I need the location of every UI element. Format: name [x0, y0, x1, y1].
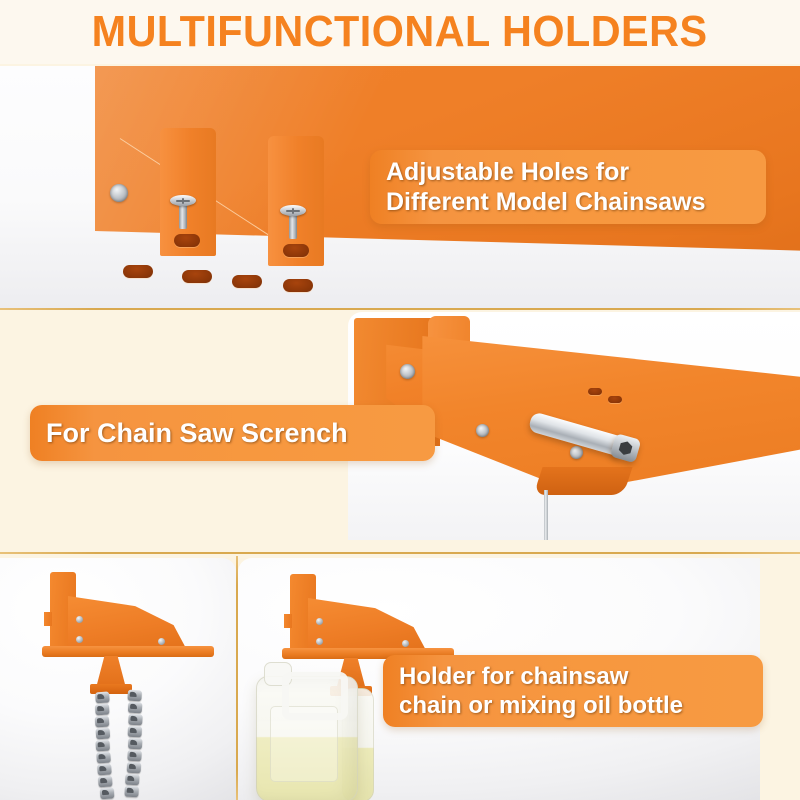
bracket-shelf	[42, 646, 214, 657]
divider-panel1-panel2	[0, 308, 800, 310]
bracket-rivet-1	[76, 616, 83, 623]
chainsaw-chain-strand-left	[94, 692, 108, 693]
title-bar: MULTIFUNCTIONAL HOLDERS	[0, 0, 800, 64]
bracket-rivet-1	[316, 618, 323, 625]
adjust-slot-2	[283, 244, 309, 257]
shelf-hole-2	[608, 396, 622, 403]
screw-head	[170, 195, 196, 206]
bracket-rivet-2	[316, 638, 323, 645]
shelf-fixing-screw-2	[476, 424, 489, 437]
screw-shaft	[179, 203, 187, 229]
callout-line-2: Different Model Chainsaws	[386, 187, 750, 218]
mount-hole-2	[182, 270, 212, 283]
screw-shaft	[289, 213, 297, 239]
mount-hole-1	[123, 265, 153, 278]
shelf-fixing-screw	[400, 364, 415, 379]
callout-line-1: For Chain Saw Scrench	[46, 417, 419, 450]
callout-line-1: Holder for chainsaw	[399, 662, 747, 691]
bracket-front-lip	[533, 467, 632, 495]
bracket-rivet-3	[158, 638, 165, 645]
bottle-handle	[282, 672, 348, 720]
mount-hole-3	[232, 275, 262, 288]
bracket-rivet-3	[402, 640, 409, 647]
keyhole-fixing	[110, 184, 128, 202]
callout-line-1: Adjustable Holes for	[386, 157, 750, 188]
divider-panel2-panel34	[0, 552, 800, 554]
callout-scrench: For Chain Saw Scrench	[30, 405, 435, 461]
callout-holder-chain-oil: Holder for chainsaw chain or mixing oil …	[383, 655, 763, 727]
mount-hole-4	[283, 279, 313, 292]
page-title: MULTIFUNCTIONAL HOLDERS	[92, 10, 708, 54]
callout-line-2: chain or mixing oil bottle	[399, 691, 747, 720]
screw-head	[280, 205, 306, 216]
shelf-hole-1	[588, 388, 602, 395]
infographic-page: MULTIFUNCTIONAL HOLDERS	[0, 0, 800, 800]
callout-adjustable-holes: Adjustable Holes for Different Model Cha…	[370, 150, 766, 224]
adjust-slot-1	[174, 234, 200, 247]
chainsaw-chain-strand-right	[128, 690, 142, 691]
chainsaw-chain-panel	[0, 558, 236, 800]
bracket-rivet-2	[76, 636, 83, 643]
support-pole	[544, 490, 548, 540]
